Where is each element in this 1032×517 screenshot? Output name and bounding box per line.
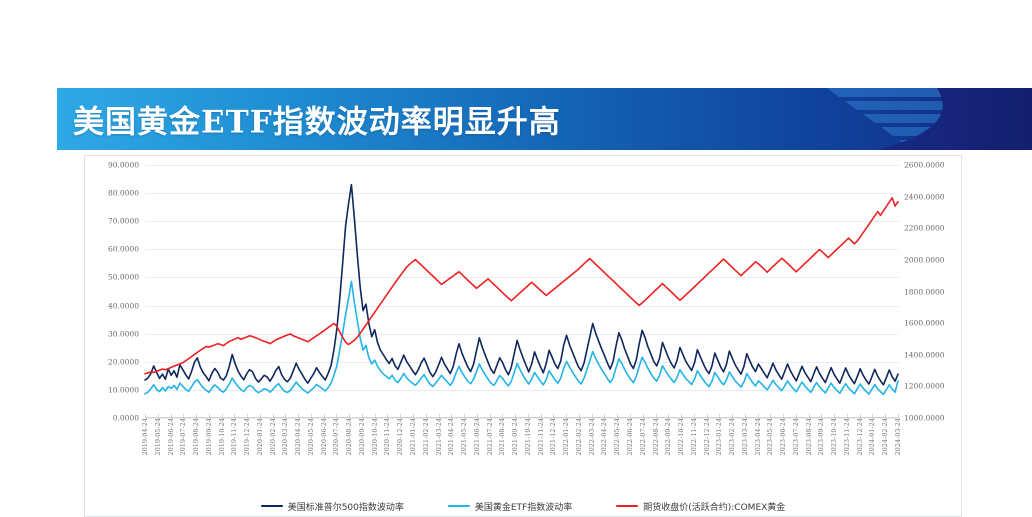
x-tick-label: 2023-12-24 xyxy=(856,418,864,455)
y-tick-left: 40.0000 xyxy=(108,301,139,310)
y-tick-left: 60.0000 xyxy=(108,245,139,254)
x-tick-label: 2019-05-24 xyxy=(154,418,162,455)
y-tick-left: 20.0000 xyxy=(108,357,139,366)
x-tick-label: 2020-01-24 xyxy=(256,418,264,455)
x-tick-label: 2021-12-24 xyxy=(549,418,557,455)
x-tick-label: 2021-11-24 xyxy=(537,418,545,455)
x-tick-label: 2023-06-24 xyxy=(779,418,787,455)
x-tick-label: 2023-02-24 xyxy=(728,418,736,455)
x-tick-label: 2021-02-24 xyxy=(422,418,430,455)
x-tick-label: 2020-07-24 xyxy=(332,418,340,455)
x-tick-label: 2024-03-24 xyxy=(894,418,902,455)
x-tick-label: 2022-05-24 xyxy=(613,418,621,455)
chart-panel: 0.000010.000020.000030.000040.000050.000… xyxy=(84,155,962,517)
plot-area: 0.000010.000020.000030.000040.000050.000… xyxy=(145,165,898,418)
y-tick-left: 50.0000 xyxy=(108,273,139,282)
y-tick-left: 80.0000 xyxy=(108,189,139,198)
y-tick-right: 2400.0000 xyxy=(904,192,945,201)
y-tick-right: 1200.0000 xyxy=(904,382,945,391)
x-tick-label: 2024-02-24 xyxy=(881,418,889,455)
x-tick-label: 2022-11-24 xyxy=(690,418,698,455)
x-tick-label: 2020-02-24 xyxy=(269,418,277,455)
x-tick-label: 2019-07-24 xyxy=(179,418,187,455)
y-tick-right: 1400.0000 xyxy=(904,350,945,359)
legend-item[interactable]: 期货收盘价(活跃合约):COMEX黄金 xyxy=(616,500,785,513)
x-tick-label: 2021-08-24 xyxy=(498,418,506,455)
y-tick-right: 1000.0000 xyxy=(904,414,945,423)
x-axis-labels: 2019-04-242019-05-242019-06-242019-07-24… xyxy=(145,418,898,474)
series-lines xyxy=(145,165,898,418)
y-tick-left: 10.0000 xyxy=(108,385,139,394)
x-tick-label: 2020-06-24 xyxy=(320,418,328,455)
x-tick-label: 2022-04-24 xyxy=(600,418,608,455)
legend-label: 美国标准普尔500指数波动率 xyxy=(288,500,404,513)
x-tick-label: 2019-12-24 xyxy=(243,418,251,455)
x-tick-label: 2020-10-24 xyxy=(371,418,379,455)
x-tick-label: 2023-01-24 xyxy=(715,418,723,455)
legend-swatch xyxy=(261,505,283,507)
x-tick-label: 2022-03-24 xyxy=(588,418,596,455)
chart-legend: 美国标准普尔500指数波动率美国黄金ETF指数波动率期货收盘价(活跃合约):CO… xyxy=(85,496,961,516)
x-tick-label: 2022-12-24 xyxy=(703,418,711,455)
x-tick-label: 2020-03-24 xyxy=(281,418,289,455)
x-tick-label: 2022-08-24 xyxy=(652,418,660,455)
legend-swatch xyxy=(616,505,638,507)
x-tick-label: 2022-02-24 xyxy=(575,418,583,455)
x-tick-label: 2023-08-24 xyxy=(805,418,813,455)
slide-root: 美国黄金ETF指数波动率明显升高 0.000010.000020.000030.… xyxy=(0,0,1032,517)
y-tick-left: 90.0000 xyxy=(108,161,139,170)
y-tick-left: 0.0000 xyxy=(113,414,139,423)
x-tick-label: 2019-04-24 xyxy=(141,418,149,455)
x-tick-label: 2022-09-24 xyxy=(664,418,672,455)
y-tick-left: 30.0000 xyxy=(108,329,139,338)
x-tick-label: 2021-10-24 xyxy=(524,418,532,455)
x-tick-label: 2022-06-24 xyxy=(626,418,634,455)
x-tick-label: 2019-06-24 xyxy=(167,418,175,455)
x-tick-label: 2021-09-24 xyxy=(511,418,519,455)
y-tick-left: 70.0000 xyxy=(108,217,139,226)
x-tick-label: 2020-11-24 xyxy=(383,418,391,455)
y-tick-right: 1600.0000 xyxy=(904,319,945,328)
x-tick-label: 2020-05-24 xyxy=(307,418,315,455)
legend-item[interactable]: 美国标准普尔500指数波动率 xyxy=(261,500,404,513)
legend-item[interactable]: 美国黄金ETF指数波动率 xyxy=(448,500,572,513)
x-tick-label: 2023-05-24 xyxy=(766,418,774,455)
page-title: 美国黄金ETF指数波动率明显升高 xyxy=(73,97,561,142)
x-tick-label: 2019-09-24 xyxy=(205,418,213,455)
x-tick-label: 2022-01-24 xyxy=(562,418,570,455)
x-tick-label: 2023-04-24 xyxy=(754,418,762,455)
y-tick-right: 2200.0000 xyxy=(904,224,945,233)
x-tick-label: 2020-09-24 xyxy=(358,418,366,455)
x-tick-label: 2023-07-24 xyxy=(792,418,800,455)
series-line xyxy=(145,185,898,385)
legend-label: 期货收盘价(活跃合约):COMEX黄金 xyxy=(643,500,785,513)
x-tick-label: 2023-03-24 xyxy=(741,418,749,455)
x-tick-label: 2024-01-24 xyxy=(868,418,876,455)
x-tick-label: 2020-12-24 xyxy=(396,418,404,455)
y-tick-right: 1800.0000 xyxy=(904,287,945,296)
x-tick-label: 2022-07-24 xyxy=(639,418,647,455)
series-line xyxy=(145,198,898,374)
x-tick-label: 2020-04-24 xyxy=(294,418,302,455)
x-tick-label: 2020-08-24 xyxy=(345,418,353,455)
x-tick-label: 2021-04-24 xyxy=(447,418,455,455)
x-tick-label: 2023-10-24 xyxy=(830,418,838,455)
x-tick-label: 2019-10-24 xyxy=(218,418,226,455)
legend-label: 美国黄金ETF指数波动率 xyxy=(475,500,572,513)
x-tick-label: 2019-08-24 xyxy=(192,418,200,455)
x-tick-label: 2021-01-24 xyxy=(409,418,417,455)
x-tick-label: 2023-09-24 xyxy=(817,418,825,455)
title-banner: 美国黄金ETF指数波动率明显升高 xyxy=(57,88,1032,150)
x-tick-label: 2021-06-24 xyxy=(473,418,481,455)
y-tick-right: 2600.0000 xyxy=(904,161,945,170)
legend-swatch xyxy=(448,505,470,507)
x-tick-label: 2023-11-24 xyxy=(843,418,851,455)
x-tick-label: 2021-03-24 xyxy=(435,418,443,455)
x-tick-label: 2021-07-24 xyxy=(486,418,494,455)
x-tick-label: 2022-10-24 xyxy=(677,418,685,455)
x-tick-label: 2019-11-24 xyxy=(230,418,238,455)
x-tick-label: 2021-05-24 xyxy=(460,418,468,455)
y-tick-right: 2000.0000 xyxy=(904,255,945,264)
